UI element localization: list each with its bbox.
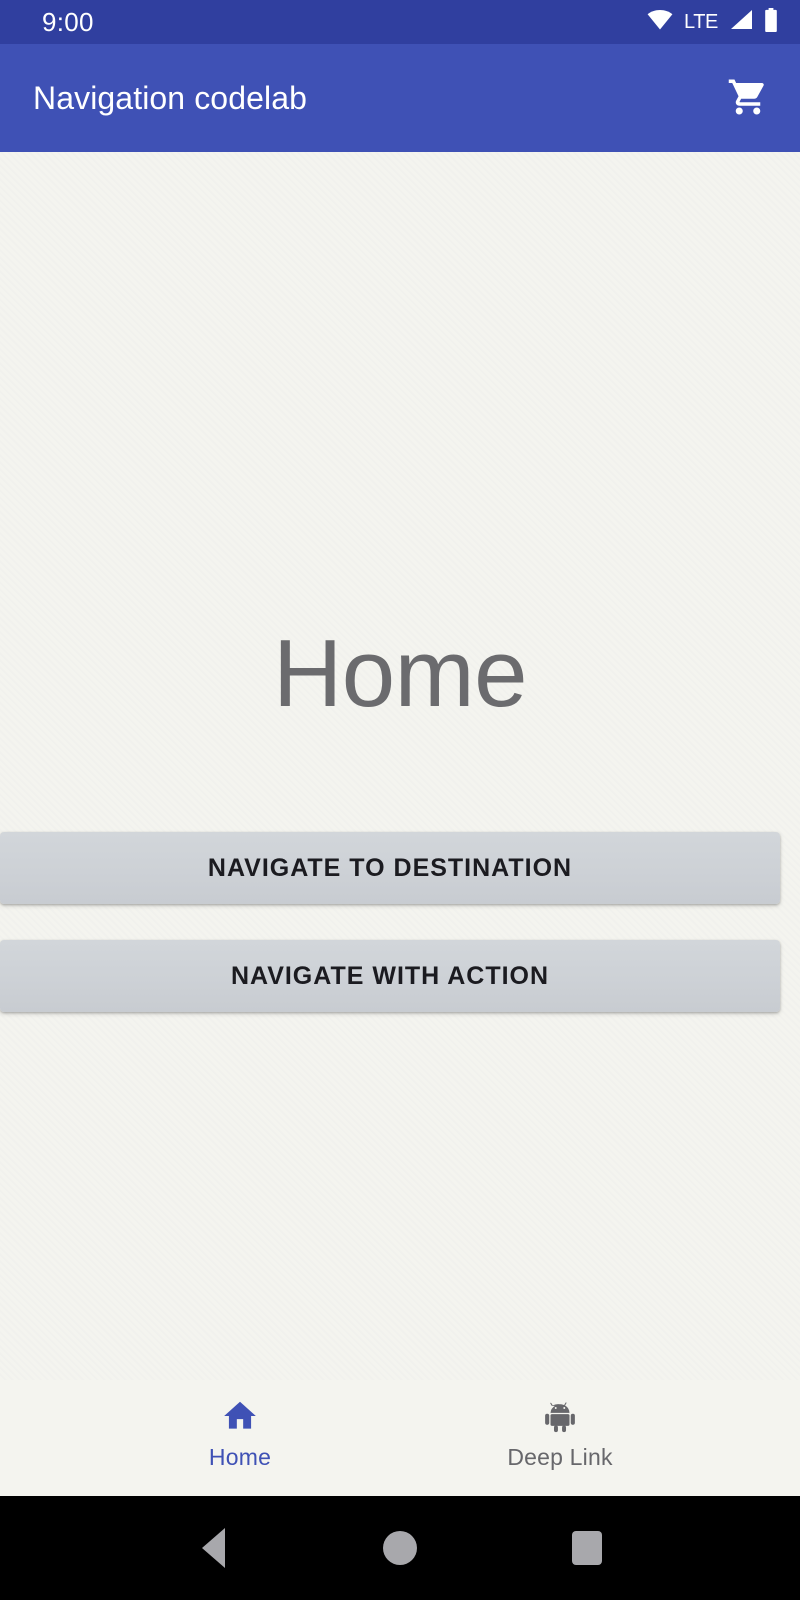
destination-headline: Home [0, 626, 800, 722]
bottom-nav-item-home[interactable]: Home [80, 1394, 400, 1469]
navigate-to-destination-button[interactable]: NAVIGATE TO DESTINATION [0, 832, 780, 904]
bottom-nav-label-home: Home [209, 1446, 271, 1469]
status-bar: 9:00 LTE [0, 0, 800, 44]
wifi-icon [647, 10, 673, 35]
content-spacer-bottom [0, 1012, 800, 1380]
app-bar: Navigation codelab [0, 44, 800, 152]
main-content: Home NAVIGATE TO DESTINATION NAVIGATE WI… [0, 152, 800, 1496]
back-triangle-icon [202, 1528, 225, 1568]
status-bar-icons: LTE [647, 8, 778, 37]
system-home-button[interactable] [360, 1508, 440, 1588]
bottom-nav-item-deep-link[interactable]: Deep Link [400, 1394, 720, 1469]
navigate-with-action-button[interactable]: NAVIGATE WITH ACTION [0, 940, 780, 1012]
bottom-navigation-bar: Home Deep Link [0, 1380, 800, 1496]
home-icon [221, 1394, 259, 1438]
shopping-cart-button[interactable] [720, 70, 776, 126]
bottom-nav-label-deep-link: Deep Link [507, 1446, 612, 1469]
network-type-label: LTE [684, 12, 718, 32]
recents-square-icon [572, 1531, 602, 1565]
system-navigation-bar [0, 1496, 800, 1600]
home-circle-icon [383, 1531, 417, 1565]
status-bar-clock: 9:00 [42, 9, 94, 35]
page-title: Navigation codelab [33, 80, 307, 117]
system-back-button[interactable] [173, 1508, 253, 1588]
action-button-group: NAVIGATE TO DESTINATION NAVIGATE WITH AC… [0, 832, 800, 1012]
system-recents-button[interactable] [547, 1508, 627, 1588]
content-spacer-mid [0, 722, 800, 832]
phone-screen: 9:00 LTE Navigation codelab [0, 0, 800, 1600]
signal-icon [729, 9, 753, 35]
android-robot-icon [541, 1394, 579, 1438]
battery-icon [764, 8, 778, 37]
content-spacer-top [0, 152, 800, 626]
shopping-cart-icon [727, 76, 769, 121]
